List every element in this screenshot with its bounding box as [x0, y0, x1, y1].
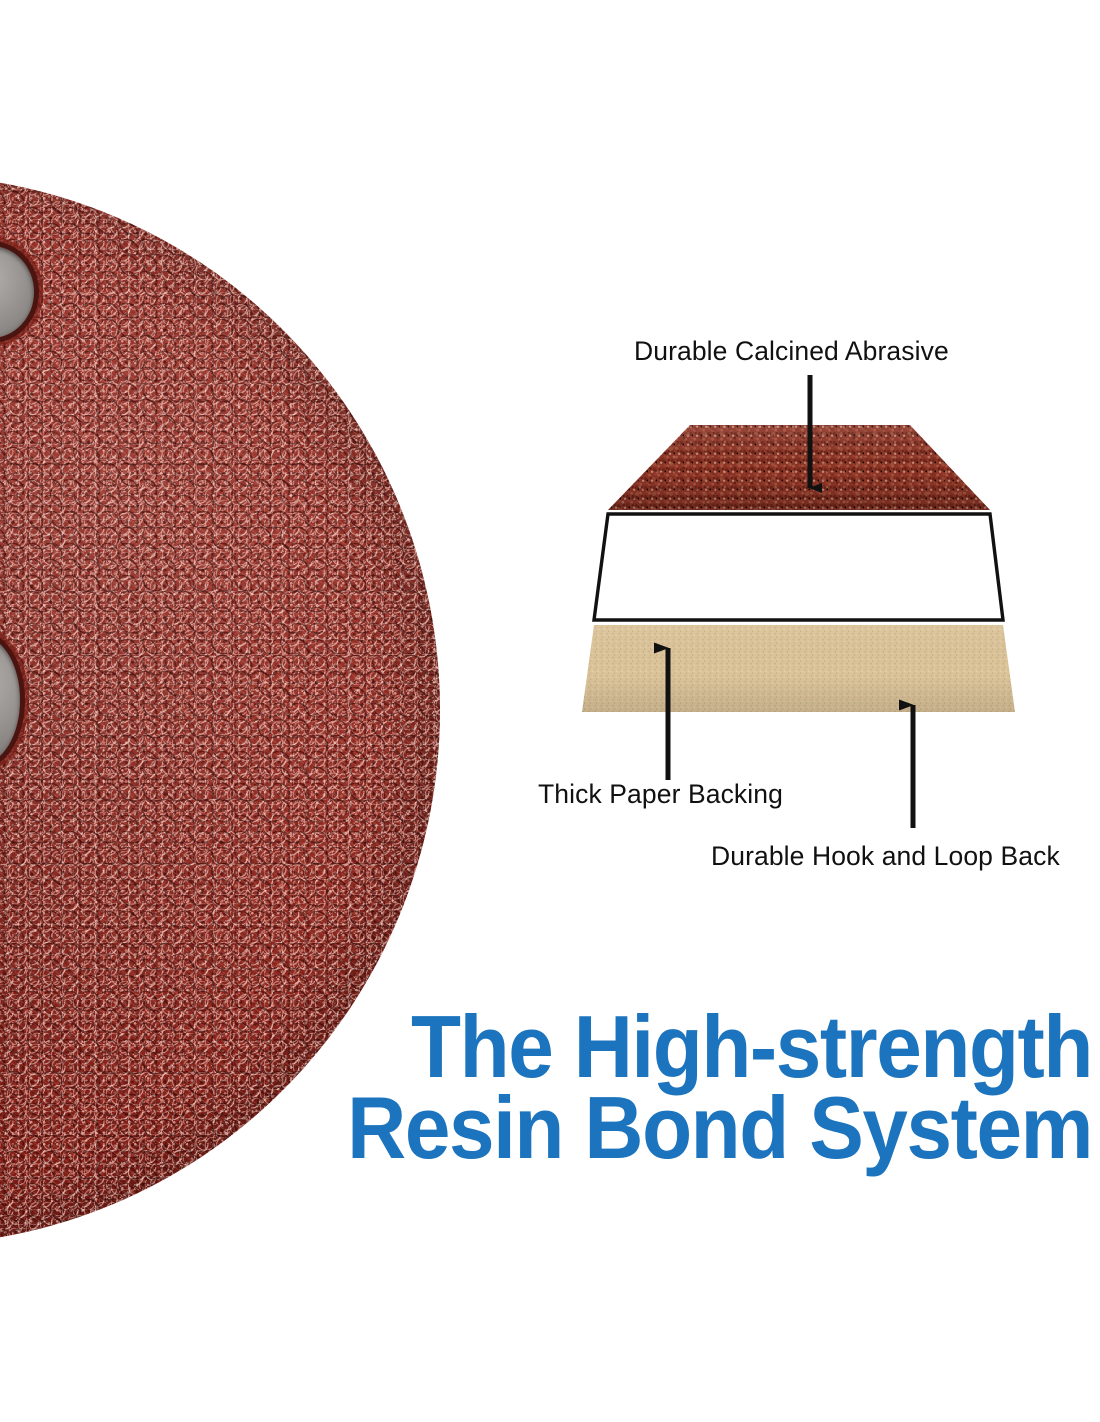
headline-line-1: The High-strength: [76, 1006, 1092, 1087]
layer-stack-diagram: [540, 320, 1100, 900]
callout-label-paper-backing: Thick Paper Backing: [538, 779, 783, 810]
callout-label-abrasive: Durable Calcined Abrasive: [634, 336, 949, 367]
layer-hook-and-loop: [582, 625, 1015, 712]
layer-paper-backing: [594, 514, 1003, 620]
headline-line-2: Resin Bond System: [76, 1087, 1092, 1168]
callout-label-hook-and-loop: Durable Hook and Loop Back: [711, 841, 1060, 872]
layer-abrasive: [608, 425, 990, 510]
headline: The High-strength Resin Bond System: [76, 1006, 1092, 1168]
infographic-canvas: Durable Calcined Abrasive Thick Paper Ba…: [0, 0, 1100, 1422]
